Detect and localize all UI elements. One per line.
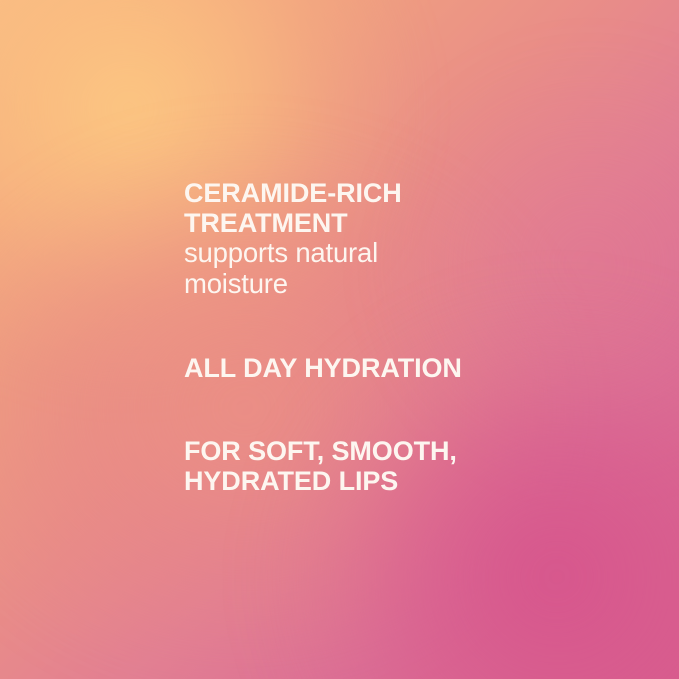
claim-subline: supports natural moisture	[184, 238, 514, 299]
claim-headline: FOR SOFT, SMOOTH, HYDRATED LIPS	[184, 436, 514, 496]
claim-headline: CERAMIDE-RICH TREATMENT	[184, 178, 514, 238]
benefit-claims-list: CERAMIDE-RICH TREATMENT supports natural…	[184, 178, 514, 496]
claim-ceramide-rich-treatment: CERAMIDE-RICH TREATMENT supports natural…	[184, 178, 514, 300]
claim-all-day-hydration: ALL DAY HYDRATION	[184, 353, 514, 383]
claim-soft-smooth-hydrated-lips: FOR SOFT, SMOOTH, HYDRATED LIPS	[184, 436, 514, 496]
marketing-image-canvas: CERAMIDE-RICH TREATMENT supports natural…	[0, 0, 679, 679]
claim-headline: ALL DAY HYDRATION	[184, 353, 514, 383]
